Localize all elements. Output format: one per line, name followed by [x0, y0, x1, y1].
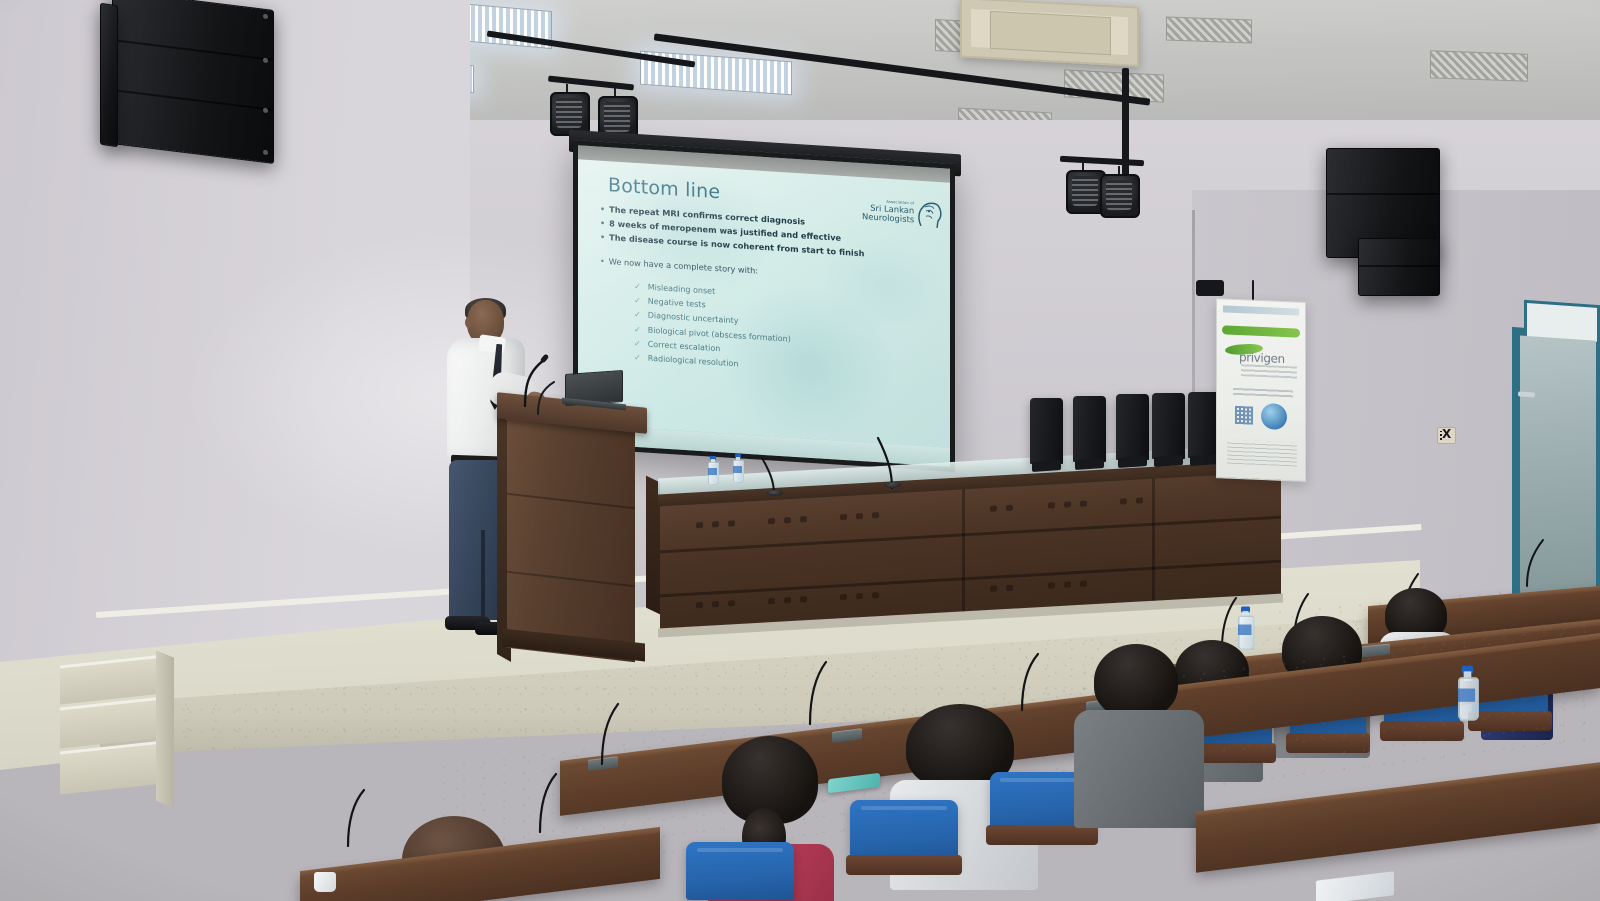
panel-chair [1073, 396, 1106, 462]
desk-microphone [1521, 536, 1547, 593]
head-table [658, 455, 1283, 630]
mic-base [884, 482, 901, 488]
check-icon: ✓ [634, 351, 641, 366]
air-vent [1430, 50, 1528, 81]
banner-green-bar [1222, 325, 1300, 337]
banner-midline-text [1233, 388, 1293, 398]
stage-step [60, 697, 164, 749]
water-bottle [733, 454, 742, 481]
water-bottle [708, 456, 717, 483]
water-bottle [1458, 666, 1475, 717]
chair-wood-trim [986, 825, 1098, 845]
bottle-label [708, 468, 717, 475]
mic-base [766, 490, 783, 496]
notepad-on-desk [1316, 871, 1394, 901]
line-array-speaker-right-lower [1358, 238, 1440, 296]
check-icon: ✓ [634, 294, 641, 309]
check-icon: ✓ [634, 308, 641, 323]
lecture-hall-photo: Bottom line • The repeat MRI confirms co… [0, 0, 1600, 901]
step-side-wall [156, 650, 174, 807]
presenter-ear [465, 317, 472, 328]
check-icon: ✓ [634, 322, 641, 337]
association-logo: Association of Sri Lankan Neurologists [862, 191, 938, 234]
bottle-label [1238, 625, 1252, 636]
bullet-dot-icon: • [600, 256, 605, 269]
cup-on-desk [314, 872, 336, 892]
brain-head-icon [917, 199, 938, 230]
desk-microphone [536, 770, 562, 839]
banner-qr-code [1235, 406, 1253, 425]
audience-chair [686, 842, 794, 900]
bottle-label [1458, 689, 1475, 702]
person-hair [1094, 644, 1178, 718]
bullet-dot-icon: • [600, 204, 605, 217]
panel-chair [1116, 394, 1149, 460]
presenter-leg-separation [481, 530, 485, 620]
logo-line-3: Neurologists [862, 212, 914, 224]
logo-text: Association of Sri Lankan Neurologists [862, 199, 914, 224]
chair-highlight [697, 848, 783, 852]
podium-microphone [536, 372, 564, 421]
line-array-speaker-left [112, 0, 274, 164]
slide-lead-in-text: We now have a complete story with: [609, 255, 758, 278]
bullet-dot-icon: • [600, 232, 605, 245]
banner-subtitle-lines [1241, 364, 1297, 378]
chair-wood-trim [846, 855, 962, 875]
slide-title: Bottom line [608, 174, 720, 203]
chair-highlight [861, 806, 947, 810]
banner-fineprint [1227, 440, 1297, 467]
check-icon: ✓ [634, 280, 641, 295]
banner-globe-icon [1261, 403, 1287, 430]
desk-microphone [1018, 650, 1044, 717]
wall-socket[interactable] [1437, 427, 1456, 444]
presenter-laptop [565, 372, 623, 408]
desk-microphone [806, 658, 832, 731]
podium [497, 400, 647, 670]
desk-microphone [598, 700, 624, 771]
table-microphone [876, 434, 910, 495]
check-icon: ✓ [634, 337, 641, 352]
slide-checklist: ✓ Misleading onset ✓ Negative tests ✓ Di… [634, 280, 930, 384]
par-can-light [1100, 174, 1140, 218]
person-torso [1074, 710, 1204, 828]
bottle-label [733, 466, 742, 473]
bullet-dot-icon: • [600, 218, 605, 231]
water-bottle [1238, 607, 1252, 648]
table-microphone [760, 452, 790, 501]
ac-cassette-unit [960, 0, 1139, 67]
stage-step [60, 655, 164, 705]
sponsor-banner: privigen [1216, 298, 1306, 482]
stage-step [60, 741, 164, 795]
chair-highlight [1000, 778, 1083, 782]
panel-chair [1030, 398, 1063, 464]
air-vent [1166, 16, 1252, 43]
desk-microphone [344, 786, 370, 853]
banner-header-bar [1223, 305, 1299, 315]
audience-chair [850, 800, 958, 864]
stage-steps [60, 650, 310, 850]
podium-front-panel [507, 413, 635, 663]
ceiling-projector-mount [1196, 280, 1224, 296]
speaker-bracket-left [100, 3, 118, 148]
panel-chair [1152, 393, 1185, 459]
